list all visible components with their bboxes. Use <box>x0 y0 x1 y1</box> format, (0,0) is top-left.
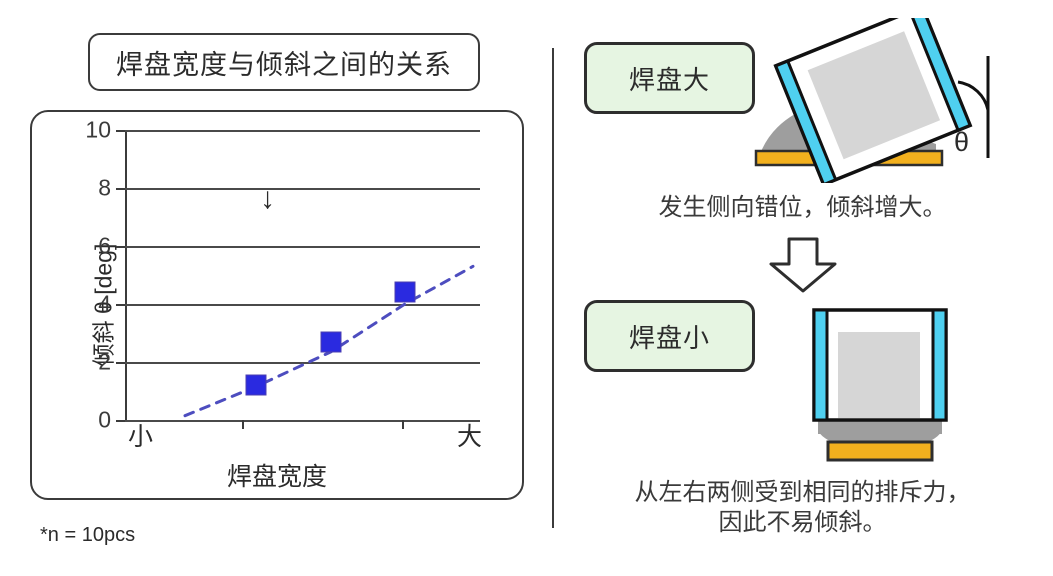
x-axis-min-label: 小 <box>128 417 153 453</box>
y-tick-label-0: 0 <box>98 407 111 434</box>
solder-pad-icon <box>828 442 932 460</box>
chart-panel: 焊盘宽度与倾斜之间的关系 倾斜 θ [deg] 10 8 6 <box>0 0 552 576</box>
down-arrow-annotation-icon: ↓ <box>260 184 275 214</box>
caption-bottom-line1: 从左右两侧受到相同的排斥力， <box>552 478 1053 508</box>
data-point-2 <box>320 331 341 352</box>
y-tick-8 <box>116 188 125 190</box>
data-point-1 <box>246 375 267 396</box>
chart-title: 焊盘宽度与倾斜之间的关系 <box>116 43 452 82</box>
y-tick-label-10: 10 <box>85 117 111 144</box>
y-tick-2 <box>116 362 125 364</box>
caption-top: 发生侧向错位，倾斜增大。 <box>552 193 1053 223</box>
chart-plot-wrapper: 倾斜 θ [deg] 10 8 6 4 <box>32 112 522 498</box>
x-tick-1 <box>242 420 244 429</box>
illustration-panel: 焊盘大 θ 发生侧向错位，倾斜增大。 <box>552 0 1053 576</box>
y-tick-4 <box>116 304 125 306</box>
chart-title-box: 焊盘宽度与倾斜之间的关系 <box>88 33 480 91</box>
chart-footnote: *n = 10pcs <box>40 524 135 547</box>
screenshot-root: 焊盘宽度与倾斜之间的关系 倾斜 θ [deg] 10 8 6 <box>0 0 1053 576</box>
y-tick-label-6: 6 <box>98 233 111 260</box>
trend-line <box>125 130 480 420</box>
flow-arrow-container <box>552 236 1053 294</box>
flow-down-arrow-icon <box>767 236 839 294</box>
plot-area: 10 8 6 4 2 0 <box>125 130 480 420</box>
theta-label-large: θ <box>954 127 969 157</box>
caption-bottom-line2: 因此不易倾斜。 <box>552 508 1053 538</box>
label-small-pad: 焊盘小 <box>629 318 710 355</box>
x-tick-2 <box>402 420 404 429</box>
caption-top-text: 发生侧向错位，倾斜增大。 <box>659 194 947 221</box>
y-tick-label-4: 4 <box>98 291 111 318</box>
y-tick-0 <box>116 420 125 422</box>
upright-chip-diagram <box>722 300 1053 470</box>
electrode-left-icon <box>814 310 827 420</box>
data-point-3 <box>395 282 416 303</box>
chart-card: 倾斜 θ [deg] 10 8 6 4 <box>30 110 524 500</box>
x-axis-title: 焊盘宽度 <box>32 457 522 493</box>
chip-inner-icon <box>838 332 920 418</box>
y-tick-label-8: 8 <box>98 175 111 202</box>
tilted-chip-diagram: θ <box>722 18 1053 183</box>
x-axis-max-label: 大 <box>457 417 482 453</box>
label-large-pad: 焊盘大 <box>629 60 710 97</box>
caption-bottom: 从左右两侧受到相同的排斥力， 因此不易倾斜。 <box>552 478 1053 538</box>
y-tick-label-2: 2 <box>98 349 111 376</box>
x-axis-line <box>125 420 480 422</box>
electrode-right-icon <box>933 310 946 420</box>
y-tick-10 <box>116 130 125 132</box>
y-tick-6 <box>116 246 125 248</box>
chip-body-icon <box>814 310 946 420</box>
